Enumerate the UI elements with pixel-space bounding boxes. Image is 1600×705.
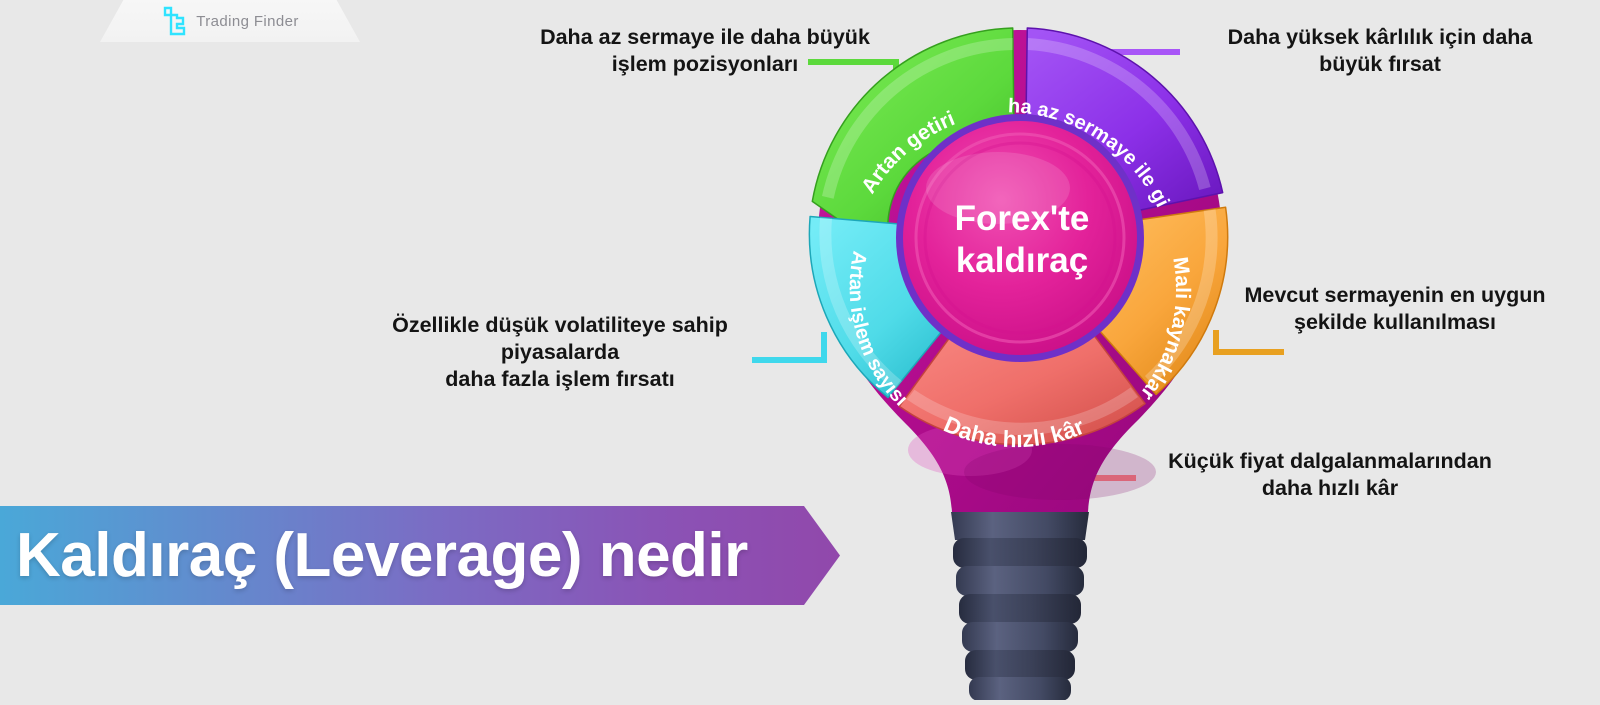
page-title: Kaldıraç (Leverage) nedir [0,525,748,587]
callout-bottom-right: Küçük fiyat dalgalanmalarından daha hızl… [1140,448,1520,502]
callout-right-mid-line2: şekilde kullanılması [1215,309,1575,336]
trading-finder-logo-icon [161,6,187,36]
callout-left-mid-line2: daha fazla işlem fırsatı [340,366,780,393]
center-label-line2: kaldıraç [956,241,1088,280]
infographic-canvas: Trading Finder [0,0,1600,700]
callout-right-mid-line1: Mevcut sermayenin en uygun [1215,282,1575,309]
callout-bottom-right-line1: Küçük fiyat dalgalanmalarından [1140,448,1520,475]
callout-top-left: Daha az sermaye ile daha büyük işlem poz… [510,24,900,78]
brand-header-tab: Trading Finder [100,0,360,42]
callout-top-right-line2: büyük fırsat [1180,51,1580,78]
center-label-line1: Forex'te [955,199,1090,238]
callout-right-mid: Mevcut sermayenin en uygun şekilde kulla… [1215,282,1575,336]
page-title-banner: Kaldıraç (Leverage) nedir [0,506,840,605]
bulb-socket [951,512,1089,700]
brand-name: Trading Finder [196,13,299,30]
callout-top-left-line1: Daha az sermaye ile daha büyük [510,24,900,51]
callout-left-mid-line1: Özellikle düşük volatiliteye sahip piyas… [340,312,780,366]
callout-left-mid: Özellikle düşük volatiliteye sahip piyas… [340,312,780,393]
callout-bottom-right-line2: daha hızlı kâr [1140,475,1520,502]
lightbulb-diagram: Artan getiri Daha az sermaye ile giriş M… [760,20,1280,700]
callout-top-right: Daha yüksek kârlılık için daha büyük fır… [1180,24,1580,78]
callout-top-left-line2: işlem pozisyonları [510,51,900,78]
callout-top-right-line1: Daha yüksek kârlılık için daha [1180,24,1580,51]
